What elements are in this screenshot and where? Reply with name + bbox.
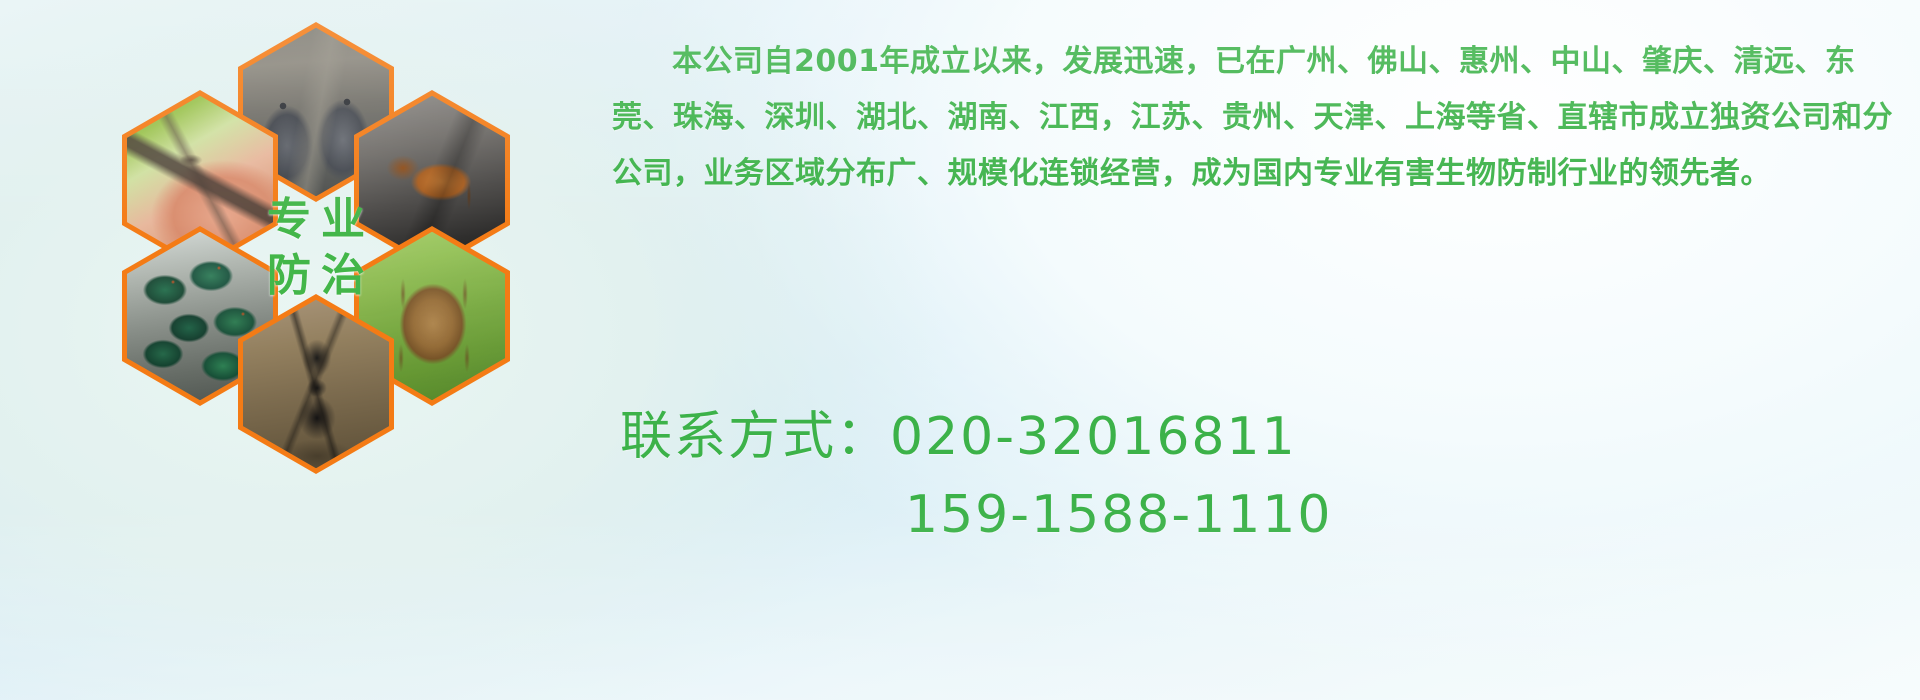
hex-label-line1: 专业 bbox=[257, 198, 375, 242]
hexagon-photo-cluster: 专业 防治 bbox=[86, 8, 586, 553]
contact-line-mobile[interactable]: 159-1588-1110 bbox=[620, 476, 1920, 554]
hex-label-line2: 防治 bbox=[257, 254, 375, 298]
contact-block: 联系方式：020-32016811 159-1588-1110 bbox=[620, 398, 1920, 554]
hex-center-label: 专业 防治 bbox=[238, 158, 394, 338]
intro-copy-block: 本公司自2001年成立以来，发展迅速，已在广州、佛山、惠州、中山、肇庆、清远、东… bbox=[612, 34, 1912, 202]
pest-control-banner: 专业 防治 本公司自2001年成立以来，发展迅速，已在广州、佛山、惠州、中山、肇… bbox=[0, 0, 1920, 700]
contact-line-landline[interactable]: 联系方式：020-32016811 bbox=[620, 398, 1920, 476]
company-intro-paragraph: 本公司自2001年成立以来，发展迅速，已在广州、佛山、惠州、中山、肇庆、清远、东… bbox=[612, 34, 1912, 202]
